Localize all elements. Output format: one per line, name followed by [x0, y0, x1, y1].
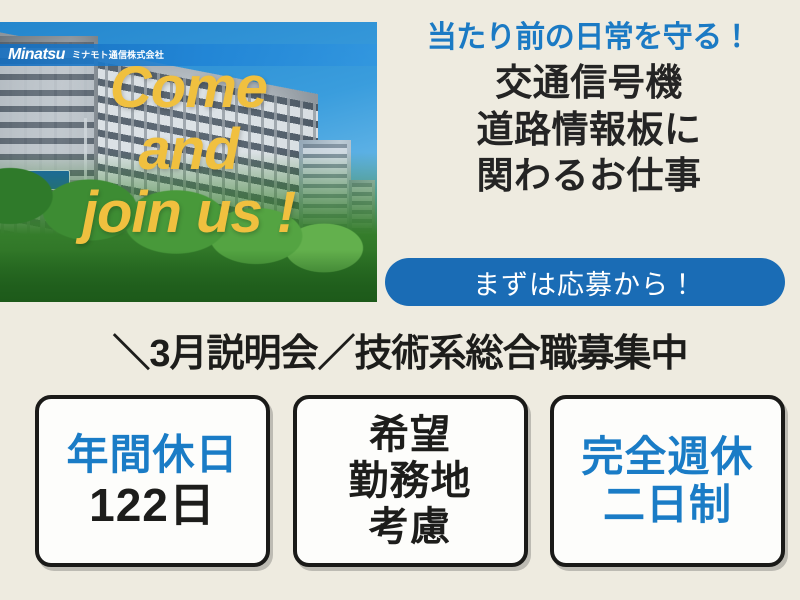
headline-line-3: 関わるお仕事 [382, 153, 796, 199]
tree-canopy [0, 152, 377, 302]
feature-line: 勤務地 [349, 460, 472, 502]
headline-line-2: 道路情報板に [382, 107, 796, 153]
company-logo-bar: Minatsu ミナモト通信株式会社 [0, 44, 377, 66]
feature-box-preferred-worksite: 希望 勤務地 考慮 [293, 395, 528, 567]
feature-line: 考慮 [369, 506, 451, 548]
logo-wordmark: Minatsu [8, 47, 65, 63]
feature-box-two-day-weekend: 完全週休 二日制 [550, 395, 785, 567]
feature-line: 完全週休 [581, 435, 753, 479]
apply-cta-button[interactable]: まずは応募から！ [385, 258, 785, 306]
feature-box-row: 年間休日 122日 希望 勤務地 考慮 完全週休 二日制 [35, 395, 785, 567]
feature-line: 年間休日 [66, 433, 238, 477]
feature-line: 122日 [89, 481, 216, 529]
recruitment-banner: Come and join us ! Minatsu ミナモト通信株式会社 当た… [0, 0, 800, 600]
feature-line: 二日制 [603, 483, 732, 527]
headline-text: 交通信号機 道路情報板に 関わるお仕事 [382, 60, 796, 199]
session-announcement-band: ＼3月説明会／技術系総合職募集中 [0, 322, 800, 377]
feature-line: 希望 [369, 414, 451, 456]
logo-company-name-jp: ミナモト通信株式会社 [72, 51, 164, 60]
kicker-text: 当たり前の日常を守る！ [382, 20, 796, 55]
office-building-photo: Come and join us ! Minatsu ミナモト通信株式会社 [0, 22, 377, 302]
headline-line-1: 交通信号機 [382, 60, 796, 106]
feature-box-annual-holidays: 年間休日 122日 [35, 395, 270, 567]
headline-column: 当たり前の日常を守る！ 交通信号機 道路情報板に 関わるお仕事 [382, 20, 796, 199]
